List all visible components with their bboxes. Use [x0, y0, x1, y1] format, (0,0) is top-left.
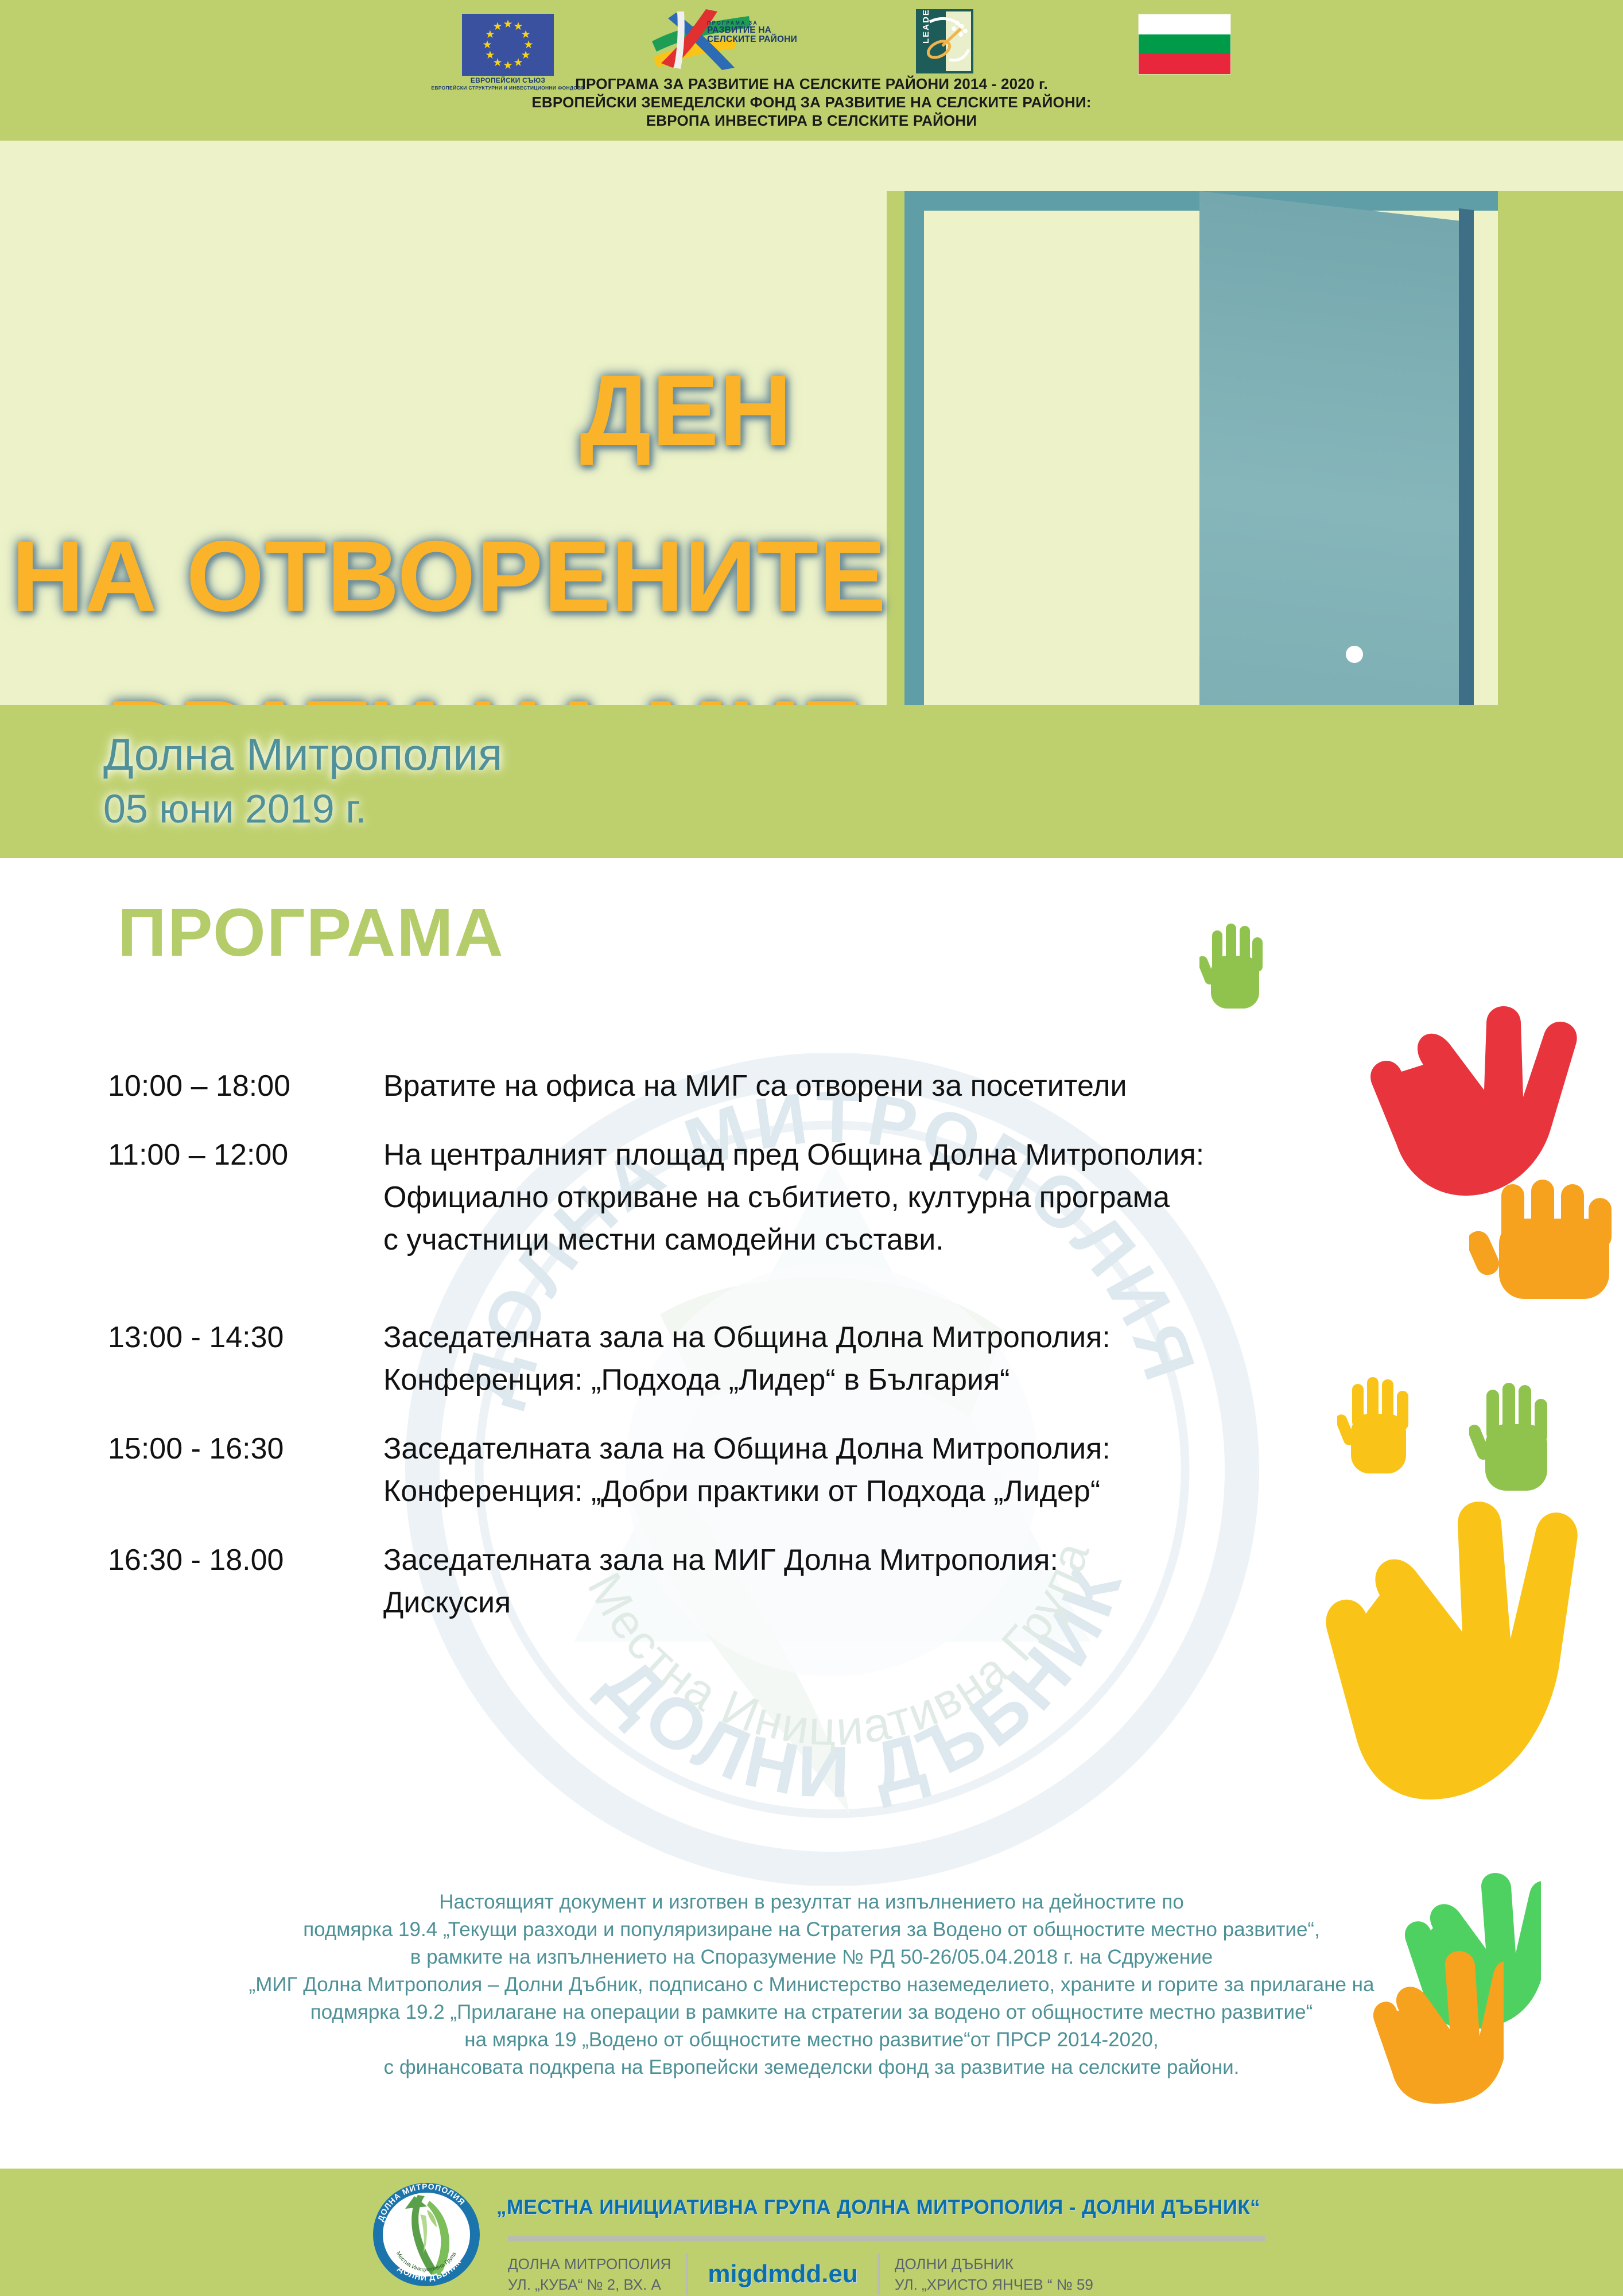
program-credit-text: ПРОГРАМА ЗА РАЗВИТИЕ НА СЕЛСКИТЕ РАЙОНИ …: [0, 75, 1623, 130]
schedule-row-time: 15:00 - 16:30: [108, 1428, 383, 1470]
footer-divider: [508, 2236, 1265, 2241]
eu-header-band: ★★★★★★★★★★★★ ЕВРОПЕЙСКИ СЪЮЗ ЕВРОПЕЙСКИ …: [0, 0, 1623, 149]
schedule-row-line: Конференция: „Добри практики от Подхода …: [383, 1470, 1399, 1512]
schedule-row-description: Вратите на офиса на МИГ са отворени за п…: [383, 1065, 1399, 1107]
footer-separator-1: [686, 2254, 688, 2295]
hero-title-line2: НА ОТВОРЕНИТЕ: [11, 526, 887, 627]
schedule-list: 10:00 – 18:00Вратите на офиса на МИГ са …: [108, 1065, 1399, 1624]
footer-address-left-street: УЛ. „КУБА“ № 2, ВХ. А: [508, 2274, 671, 2295]
eu-star-icon: ★: [503, 20, 513, 29]
hand-green-small-icon: [1199, 921, 1274, 1016]
schedule-row-time: 11:00 – 12:00: [108, 1134, 383, 1176]
schedule-row-line: Заседателната зала на МИГ Долна Митропол…: [383, 1539, 1399, 1581]
program-section: ДОЛНА МИТРОПОЛИЯ ДОЛНИ ДЪБНИК Местна Ини…: [0, 858, 1623, 2158]
eu-star-icon: ★: [493, 22, 503, 32]
schedule-row-line: На централният площад пред Община Долна …: [383, 1134, 1399, 1176]
schedule-row-time: 16:30 - 18.00: [108, 1539, 383, 1581]
schedule-row-time: 10:00 – 18:00: [108, 1065, 383, 1107]
mig-logo-icon: ДОЛНА МИТРОПОЛИЯ ДОЛНИ ДЪБНИК Местна Ини…: [372, 2180, 481, 2289]
door-knob-icon: [1346, 646, 1363, 663]
program-credit-line2: ЕВРОПЕЙСКИ ЗЕМЕДЕЛСКИ ФОНД ЗА РАЗВИТИЕ Н…: [0, 93, 1623, 111]
schedule-row-line: Официално откриване на събитието, култур…: [383, 1176, 1399, 1219]
footer-website-link[interactable]: migdmdd.eu: [703, 2254, 863, 2295]
eu-star-icon: ★: [521, 30, 531, 40]
bulgaria-flag-icon: [1138, 14, 1231, 75]
eu-star-icon: ★: [485, 51, 495, 60]
program-credit-line3: ЕВРОПА ИНВЕСТИРА В СЕЛСКИТЕ РАЙОНИ: [0, 111, 1623, 130]
schedule-row-description: Заседателната зала на Община Долна Митро…: [383, 1316, 1399, 1401]
prsr-logo-text: ПРОГРАМА ЗА РАЗВИТИЕ НА СЕЛСКИТЕ РАЙОНИ: [707, 21, 797, 44]
footer-address-right: ДОЛНИ ДЪБНИК УЛ. „ХРИСТО ЯНЧЕВ “ № 59: [895, 2254, 1108, 2295]
hero-location: Долна Митрополия: [103, 732, 502, 777]
leader-wordmark: LEADER: [921, 9, 931, 44]
schedule-row-line: Конференция: „Подхода „Лидер“ в България…: [383, 1359, 1399, 1401]
prsr-line3: СЕЛСКИТЕ РАЙОНИ: [707, 35, 797, 44]
hand-orange-icon: [1469, 1180, 1623, 1314]
prsr-line2: РАЗВИТИЕ НА: [707, 26, 797, 35]
schedule-row-time: 13:00 - 14:30: [108, 1316, 383, 1359]
hero-title-line1: ДЕН: [580, 360, 793, 461]
page-title: ПРОГРАМА: [118, 894, 504, 972]
footer-org-title: „МЕСТНА ИНИЦИАТИВНА ГРУПА ДОЛНА МИТРОПОЛ…: [496, 2196, 1260, 2219]
schedule-row-line: с участници местни самодейни състави.: [383, 1219, 1399, 1261]
hero-date: 05 юни 2019 г.: [103, 789, 367, 829]
schedule-row-description: Заседателната зала на МИГ Долна Митропол…: [383, 1539, 1399, 1624]
footer-separator-2: [877, 2254, 880, 2295]
schedule-row: 15:00 - 16:30Заседателната зала на Общин…: [108, 1428, 1399, 1512]
schedule-row-description: На централният площад пред Община Долна …: [383, 1134, 1399, 1261]
schedule-row-line: Вратите на офиса на МИГ са отворени за п…: [383, 1065, 1399, 1107]
eu-star-icon: ★: [514, 58, 523, 68]
hand-orange-bottom-icon: [1372, 1937, 1504, 2107]
schedule-row-description: Заседателната зала на Община Долна Митро…: [383, 1428, 1399, 1512]
eu-star-icon: ★: [503, 61, 513, 71]
footer-address-left-city: ДОЛНА МИТРОПОЛИЯ: [508, 2254, 671, 2274]
footer-address-left: ДОЛНА МИТРОПОЛИЯ УЛ. „КУБА“ № 2, ВХ. А: [508, 2254, 686, 2295]
disclaimer-line: Настоящият документ и изготвен в резулта…: [0, 1888, 1623, 1916]
schedule-row: 10:00 – 18:00Вратите на офиса на МИГ са …: [108, 1065, 1399, 1107]
footer-address-right-city: ДОЛНИ ДЪБНИК: [895, 2254, 1093, 2274]
schedule-row: 13:00 - 14:30Заседателната зала на Общин…: [108, 1316, 1399, 1401]
schedule-row-line: Заседателната зала на Община Долна Митро…: [383, 1316, 1399, 1359]
footer-addresses: ДОЛНА МИТРОПОЛИЯ УЛ. „КУБА“ № 2, ВХ. А m…: [508, 2254, 1108, 2295]
leader-logo-icon: LEADER: [916, 9, 973, 73]
schedule-row-line: Дискусия: [383, 1581, 1399, 1624]
eu-star-icon: ★: [483, 40, 492, 50]
poster: ★★★★★★★★★★★★ ЕВРОПЕЙСКИ СЪЮЗ ЕВРОПЕЙСКИ …: [0, 0, 1623, 2296]
header-logos: ★★★★★★★★★★★★ ЕВРОПЕЙСКИ СЪЮЗ ЕВРОПЕЙСКИ …: [0, 3, 1623, 84]
program-credit-line1: ПРОГРАМА ЗА РАЗВИТИЕ НА СЕЛСКИТЕ РАЙОНИ …: [0, 75, 1623, 93]
schedule-row: 11:00 – 12:00На централният площад пред …: [108, 1134, 1399, 1261]
hero-bottom-band: Долна Митрополия 05 юни 2019 г.: [0, 705, 1623, 858]
schedule-row-line: Заседателната зала на Община Долна Митро…: [383, 1428, 1399, 1470]
eu-star-icon: ★: [524, 40, 534, 50]
schedule-row: 16:30 - 18.00Заседателната зала на МИГ Д…: [108, 1539, 1399, 1624]
footer-band: ДОЛНА МИТРОПОЛИЯ ДОЛНИ ДЪБНИК Местна Ини…: [0, 2169, 1623, 2296]
footer-address-right-street: УЛ. „ХРИСТО ЯНЧЕВ “ № 59: [895, 2274, 1093, 2295]
eu-flag-icon: ★★★★★★★★★★★★: [462, 14, 554, 76]
